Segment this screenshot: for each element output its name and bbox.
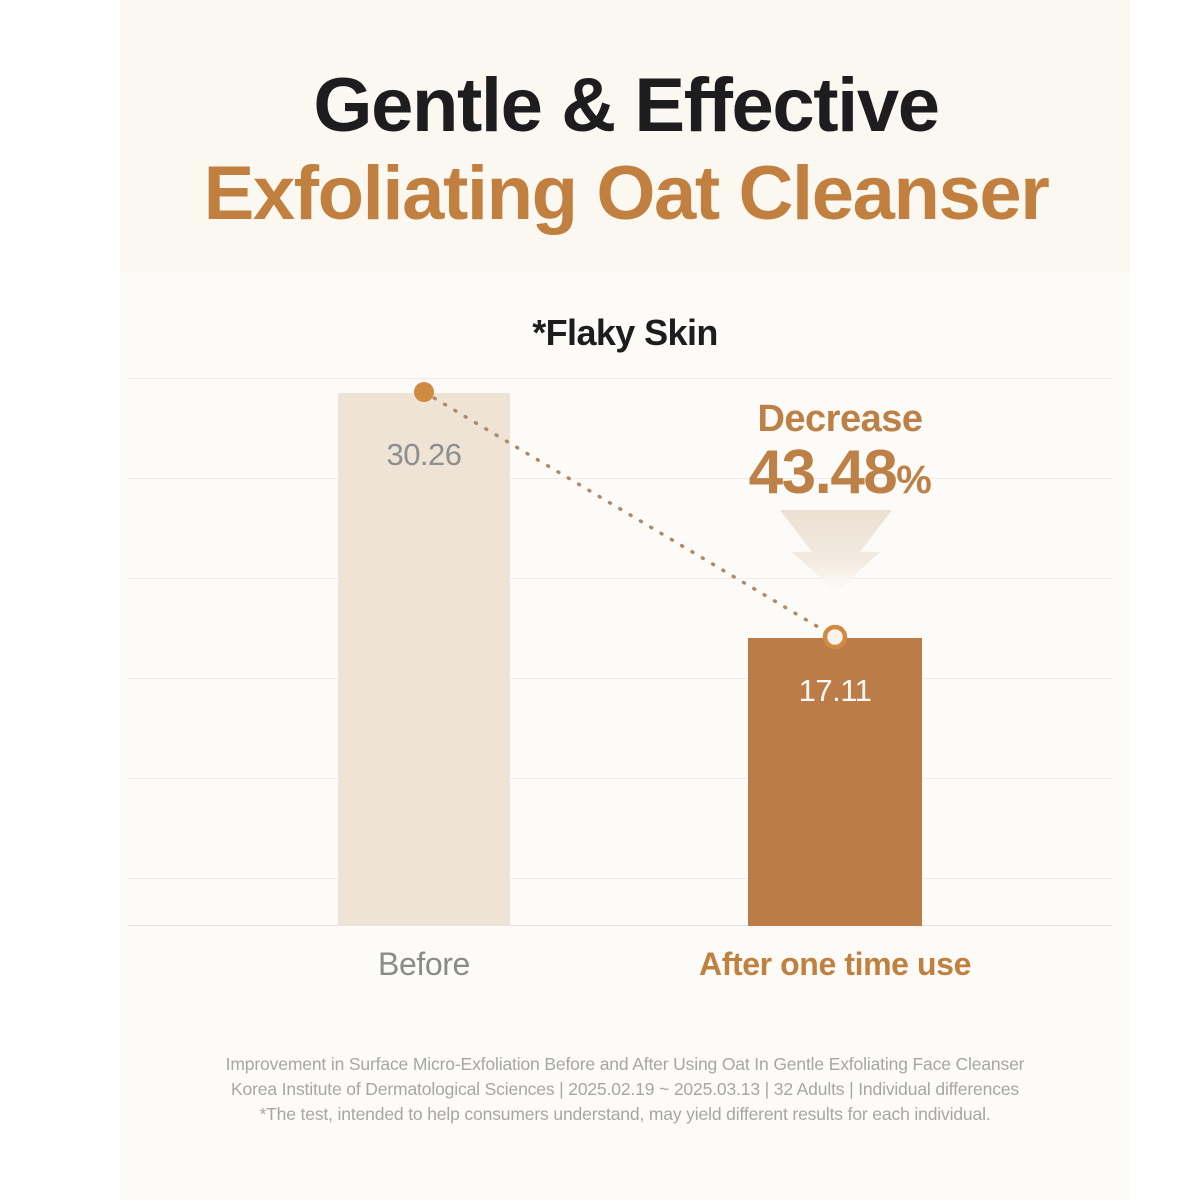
bar-before: 30.26: [338, 393, 510, 926]
axis-baseline: [128, 925, 1112, 926]
bar-after: 17.11: [748, 638, 922, 926]
chart-title: *Flaky Skin: [120, 312, 1130, 354]
headline-line-1: Gentle & Effective: [120, 62, 1132, 150]
gridline: [128, 678, 1112, 679]
infographic-page: Gentle & Effective Exfoliating Oat Clean…: [0, 0, 1200, 1200]
bar-value-before: 30.26: [338, 437, 510, 473]
callout-percent-sign: %: [896, 458, 931, 502]
gridline: [128, 878, 1112, 879]
headline-line-2: Exfoliating Oat Cleanser: [120, 150, 1132, 238]
decrease-callout: Decrease 43.48%: [690, 396, 990, 520]
footnote-line-1: Improvement in Surface Micro-Exfoliation…: [120, 1052, 1130, 1077]
axis-label-before: Before: [238, 946, 610, 983]
callout-value: 43.48: [749, 438, 897, 507]
footnote-line-2: Korea Institute of Dermatological Scienc…: [120, 1077, 1130, 1102]
gridline: [128, 778, 1112, 779]
callout-label: Decrease: [690, 396, 990, 442]
page-title: Gentle & Effective Exfoliating Oat Clean…: [120, 62, 1132, 238]
footnote: Improvement in Surface Micro-Exfoliation…: [120, 1052, 1130, 1127]
arrow-down-icon: [770, 508, 902, 594]
gridline: [128, 578, 1112, 579]
bar-value-after: 17.11: [748, 673, 922, 709]
gridline: [128, 378, 1112, 379]
axis-label-after: After one time use: [648, 946, 1022, 983]
footnote-line-3: *The test, intended to help consumers un…: [120, 1102, 1130, 1127]
